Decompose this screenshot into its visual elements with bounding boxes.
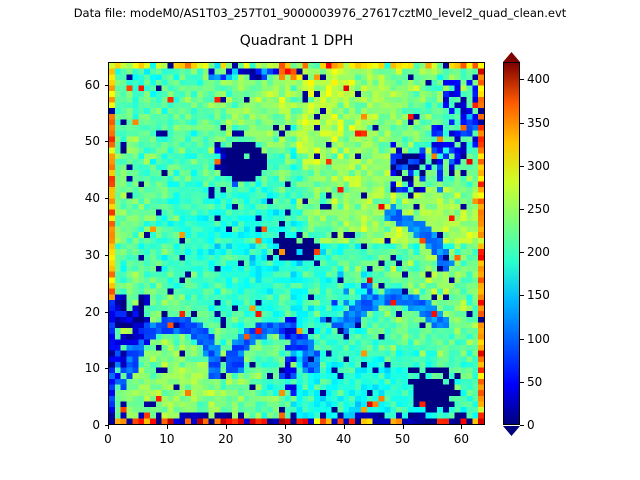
y-axis-tick-label: 10: [62, 361, 100, 375]
colorbar-tick-label: 50: [527, 375, 542, 389]
colorbar-tick-label: 100: [527, 332, 550, 346]
y-axis-tick-label: 30: [62, 248, 100, 262]
x-axis-tick-mark: [108, 425, 109, 429]
colorbar-tick-mark: [520, 295, 524, 296]
y-axis-tick-mark: [105, 198, 109, 199]
colorbar-tick-mark: [520, 166, 524, 167]
x-axis-tick-label: 20: [218, 432, 233, 446]
x-axis-tick-label: 30: [277, 432, 292, 446]
x-axis-tick-label: 10: [159, 432, 174, 446]
figure-canvas: Data file: modeM0/AS1T03_257T01_90000039…: [0, 0, 640, 480]
colorbar-tick-mark: [520, 252, 524, 253]
colorbar-tick-label: 150: [527, 288, 550, 302]
x-axis-tick-label: 60: [454, 432, 469, 446]
y-axis-tick-label: 40: [62, 191, 100, 205]
colorbar-tick-label: 250: [527, 202, 550, 216]
x-axis-tick-mark: [461, 425, 462, 429]
x-axis-tick-mark: [344, 425, 345, 429]
colorbar-tick-mark: [520, 123, 524, 124]
colorbar-tick-label: 350: [527, 116, 550, 130]
y-axis-tick-label: 50: [62, 134, 100, 148]
data-file-caption: Data file: modeM0/AS1T03_257T01_90000039…: [0, 6, 640, 20]
colorbar-tick-label: 0: [527, 418, 535, 432]
y-axis-tick-mark: [105, 85, 109, 86]
colorbar-tick-mark: [520, 209, 524, 210]
colorbar-tick-mark: [520, 425, 524, 426]
y-axis-tick-mark: [105, 425, 109, 426]
colorbar-extend-down-icon: [503, 426, 520, 436]
x-axis-tick-label: 50: [395, 432, 410, 446]
colorbar-body: [503, 62, 520, 425]
x-axis-tick-mark: [403, 425, 404, 429]
y-axis-tick-mark: [105, 141, 109, 142]
x-axis-tick-mark: [167, 425, 168, 429]
colorbar-tick-label: 200: [527, 245, 550, 259]
colorbar: 050100150200250300350400: [503, 53, 525, 435]
y-axis-tick-mark: [105, 255, 109, 256]
heatmap-plot-area: [108, 62, 485, 425]
y-axis-tick-mark: [105, 368, 109, 369]
page-title: Quadrant 1 DPH: [108, 33, 485, 49]
y-axis-tick-label: 20: [62, 305, 100, 319]
y-axis-tick-mark: [105, 312, 109, 313]
x-axis-tick-label: 0: [104, 432, 112, 446]
y-axis-tick-label: 60: [62, 78, 100, 92]
colorbar-tick-label: 400: [527, 72, 550, 86]
colorbar-tick-mark: [520, 79, 524, 80]
x-axis-tick-label: 40: [336, 432, 351, 446]
colorbar-tick-mark: [520, 382, 524, 383]
x-axis-tick-mark: [285, 425, 286, 429]
colorbar-tick-mark: [520, 339, 524, 340]
y-axis-tick-label: 0: [62, 418, 100, 432]
colorbar-tick-label: 300: [527, 159, 550, 173]
colorbar-extend-up-icon: [503, 52, 520, 62]
detector-heatmap-image: [109, 63, 484, 424]
x-axis-tick-mark: [226, 425, 227, 429]
colorbar-gradient: [504, 63, 519, 424]
